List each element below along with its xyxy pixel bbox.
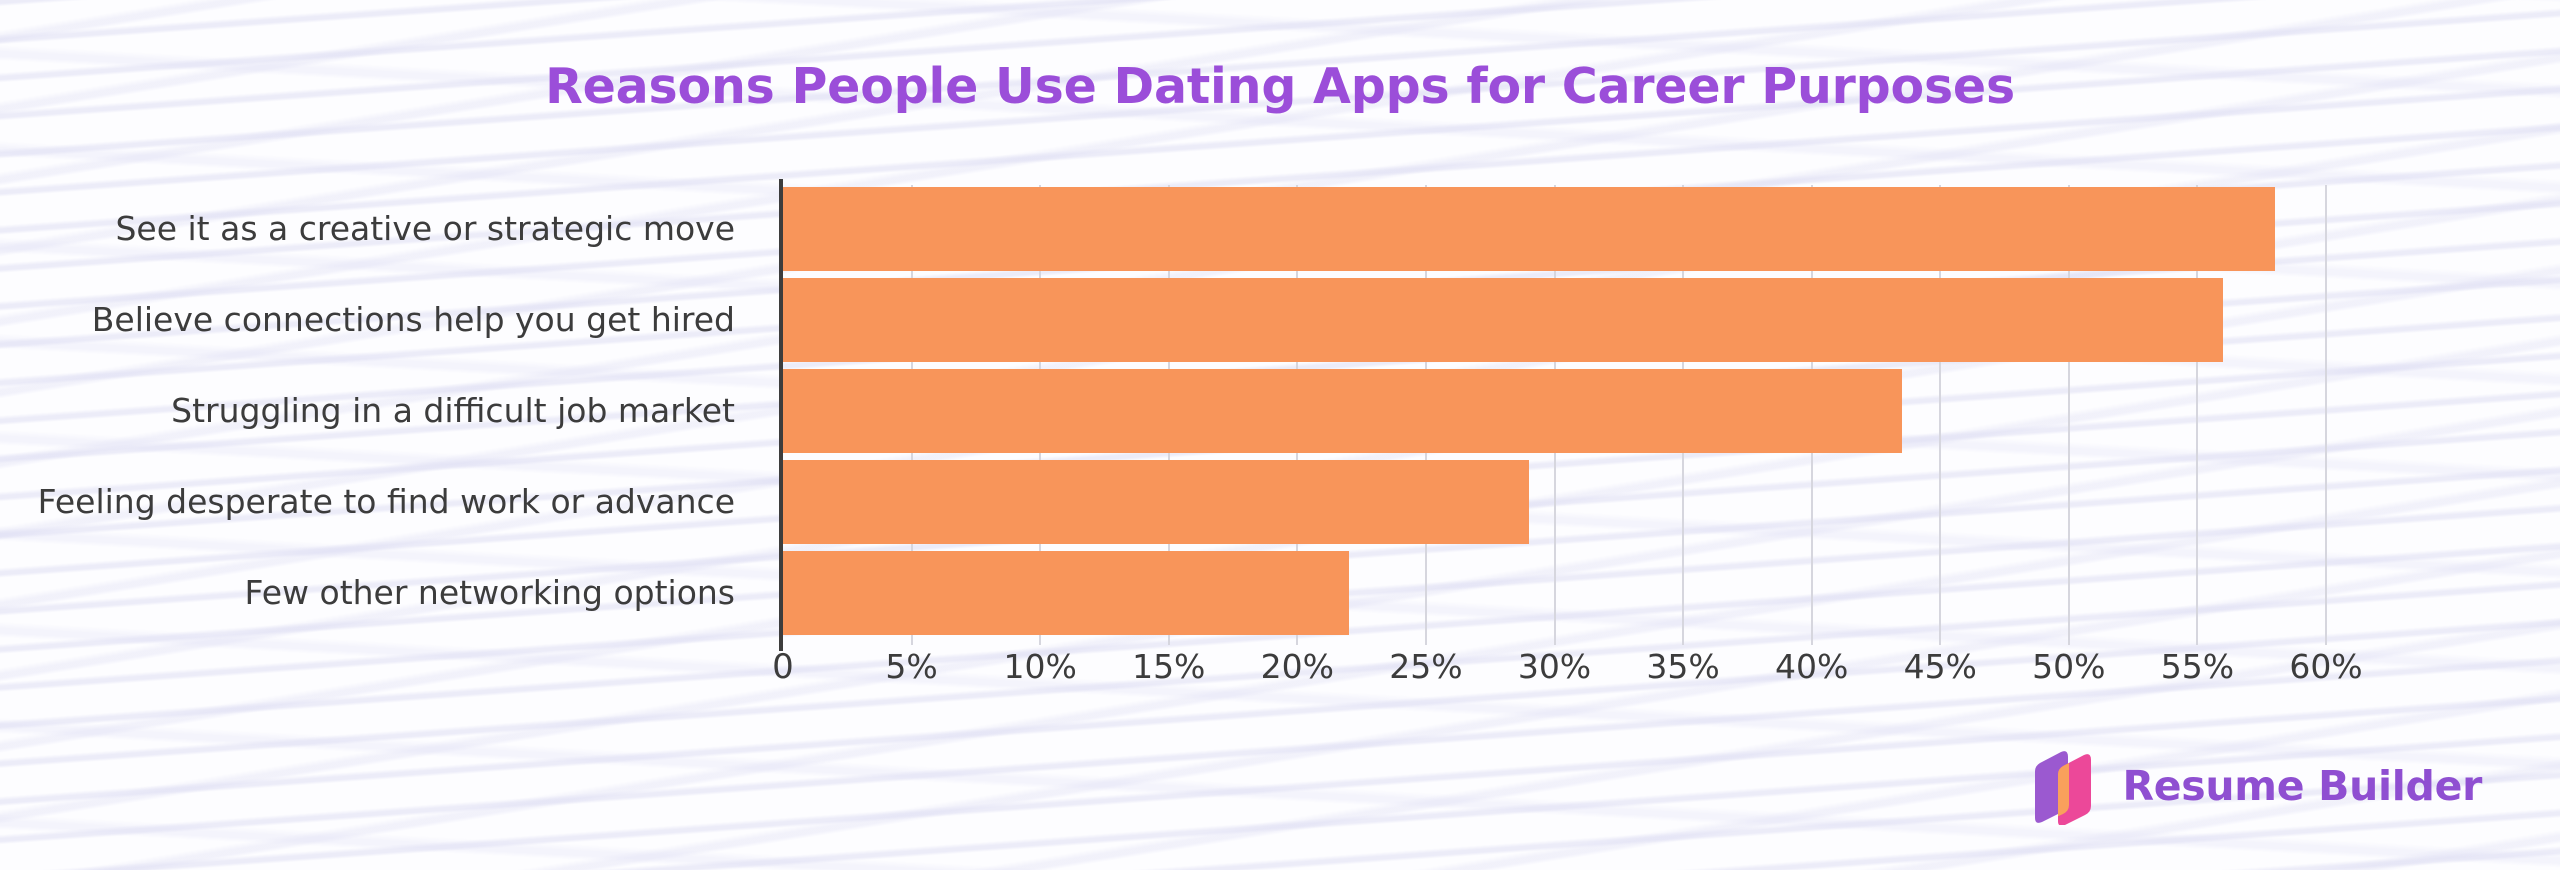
bar-0: [783, 187, 2275, 271]
x-tick-label-5: 25%: [1389, 647, 1462, 686]
bar-3: [783, 460, 1529, 544]
y-axis-label-2: Struggling in a difficult job market: [171, 367, 735, 455]
bar-4: [783, 551, 1349, 635]
chart-plot-wrapper: See it as a creative or strategic move B…: [0, 185, 2560, 715]
x-tick-label-9: 45%: [1904, 647, 1977, 686]
y-axis-label-3: Feeling desperate to find work or advanc…: [38, 458, 735, 546]
x-tick-label-11: 55%: [2161, 647, 2234, 686]
x-tick-label-6: 30%: [1518, 647, 1591, 686]
x-tick-label-2: 10%: [1003, 647, 1076, 686]
bar-1: [783, 278, 2223, 362]
x-tick-label-3: 15%: [1132, 647, 1205, 686]
bar-series: [783, 185, 2326, 645]
y-axis-label-0: See it as a creative or strategic move: [115, 185, 735, 273]
plot-area: [783, 185, 2326, 645]
x-axis-tick-labels: 05%10%15%20%25%30%35%40%45%50%55%60%: [783, 647, 2326, 707]
x-tick-label-0: 0: [772, 647, 794, 687]
chart-title: Reasons People Use Dating Apps for Caree…: [0, 58, 2560, 115]
brand-name-label: Resume Builder: [2123, 762, 2483, 810]
x-tick-label-10: 50%: [2032, 647, 2105, 686]
y-axis-label-4: Few other networking options: [245, 549, 735, 637]
x-tick-label-8: 40%: [1775, 647, 1848, 686]
y-axis-label-1: Believe connections help you get hired: [92, 276, 735, 364]
x-tick-label-1: 5%: [885, 647, 937, 686]
x-tick-label-7: 35%: [1646, 647, 1719, 686]
resume-builder-logo-icon: [2025, 747, 2101, 825]
brand-lockup: Resume Builder: [2025, 747, 2483, 825]
x-tick-label-12: 60%: [2289, 647, 2362, 686]
x-tick-label-4: 20%: [1261, 647, 1334, 686]
y-axis-category-labels: See it as a creative or strategic move B…: [0, 185, 760, 645]
bar-2: [783, 369, 1902, 453]
